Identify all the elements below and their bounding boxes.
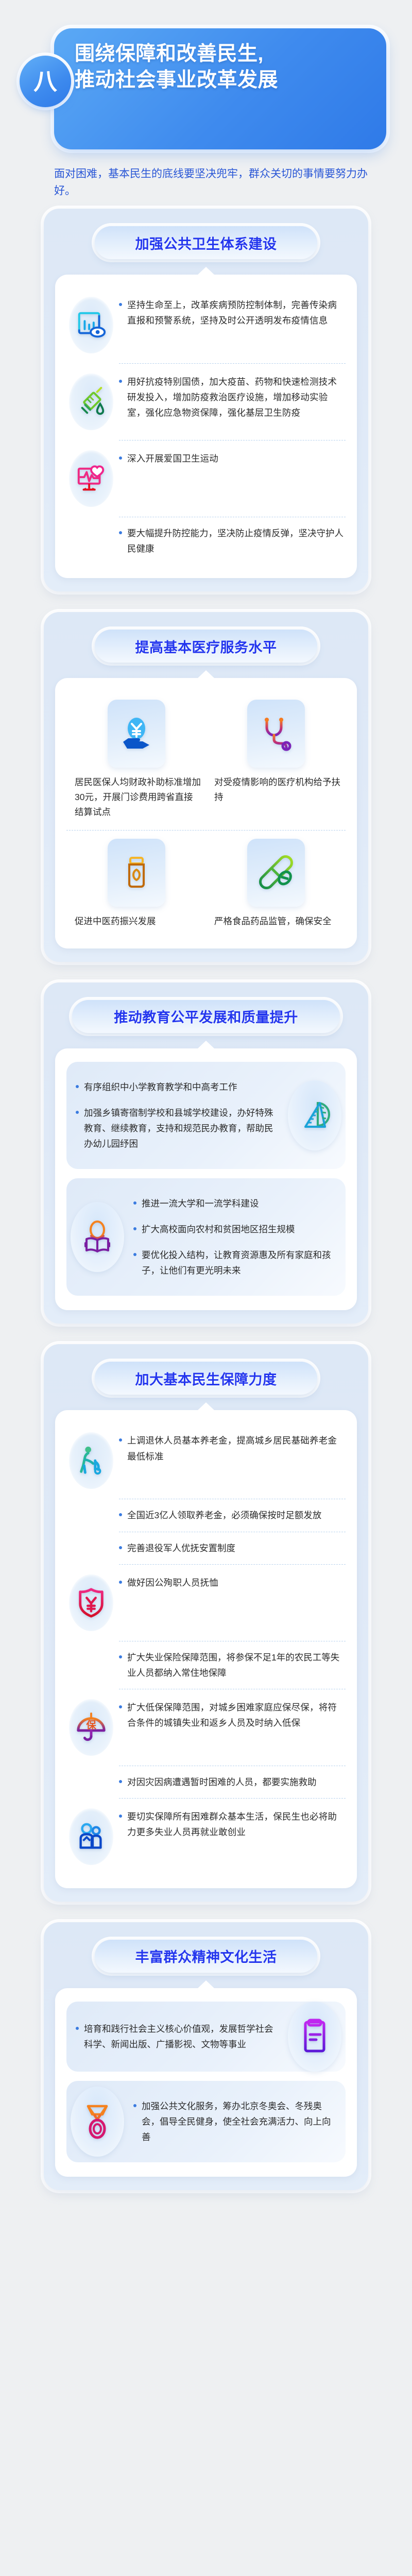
bullet-dot (119, 456, 122, 460)
icon-wrap (66, 1573, 116, 1633)
culture-panel-two: 加强公共文化服务，筹办北京冬奥会、冬残奥会，倡导全民健身，使全社会充满活力、向上… (66, 2081, 346, 2162)
list-item: 保 扩大低保保障范围，对城乡困难家庭应保尽保，将符合条件的城镇失业和返乡人员及时… (66, 1690, 346, 1765)
section-number-badge: 八 (20, 56, 71, 107)
list-item: 上调退休人员基本养老金，提高城乡居民基础养老金最低标准 (66, 1423, 346, 1498)
section-title-pill-livelihood: 加大基本民生保障力度 (95, 1362, 317, 1395)
list-item: 加强公共文化服务，筹办北京冬奥会、冬残奥会，倡导全民健身，使全社会充满活力、向上… (133, 2093, 338, 2150)
list-item: 推进一流大学和一流学科建设 (133, 1191, 338, 1216)
section-education: 推动教育公平发展和质量提升 有序组织中小学教育教学和中高考工作 加强乡镇寄宿制学… (44, 982, 368, 1324)
divider (119, 517, 346, 517)
list-item: 培育和践行社会主义核心价值观，发展哲学社会科学、新闻出版、广播影视、文物等事业 (76, 2016, 279, 2057)
grid-cell: 对受疫情影响的医疗机构给予扶持 (206, 691, 346, 825)
section-medical-service: 提高基本医疗服务水平 居民医保人均财政补助标准增加30元，开展门诊费用跨省直接结… (44, 612, 368, 962)
section-title-livelihood: 加大基本民生保障力度 (135, 1368, 277, 1388)
bullet-dot (133, 1201, 136, 1205)
icon-wrap: 保 (66, 1698, 116, 1757)
list-item: 完善退役军人优抚安置制度 (66, 1533, 346, 1563)
list-item: 要切实保障所有困难群众基本生活，保民生也必将助力更多失业人员再就业敢创业 (66, 1800, 346, 1874)
list-item: 扩大高校面向农村和贫困地区招生规模 (133, 1216, 338, 1242)
icon-wrap (66, 1202, 128, 1272)
education-panel-two: 推进一流大学和一流学科建设 扩大高校面向农村和贫困地区招生规模 要优化投入结构，… (66, 1178, 346, 1296)
list-item-text: 坚持生命至上，改革疾病预防控制体制，完善传染病直报和预警系统，坚持及时公开透明发… (127, 297, 346, 328)
section-title-pill-education: 推动教育公平发展和质量提升 (72, 1000, 340, 1033)
list-item-text: 扩大失业保险保障范围，将参保不足1年的农民工等失业人员都纳入常住地保障 (127, 1650, 346, 1681)
grid-cell-text: 对受疫情影响的医疗机构给予扶持 (211, 775, 340, 805)
divider (119, 1766, 346, 1766)
spacer (66, 2072, 346, 2081)
grid-cell: 居民医保人均财政补助标准增加30元，开展门诊费用跨省直接结算试点 (66, 691, 206, 825)
icon-wrap (284, 2002, 346, 2072)
list-item-text: 要大幅提升防控能力，坚决防止疫情反弹，坚决守护人民健康 (127, 526, 346, 556)
section-livelihood: 加大基本民生保障力度 (44, 1344, 368, 1901)
grid-cell-text: 促进中医药振兴发展 (72, 914, 201, 929)
list-item-text: 完善退役军人优抚安置制度 (127, 1540, 235, 1556)
list-item-text-wrap: 扩大低保保障范围，对城乡困难家庭应保尽保，将符合条件的城镇失业和返乡人员及时纳入… (119, 1698, 346, 1731)
section-title-public-health: 加强公共卫生体系建设 (135, 233, 277, 253)
section-title-medical-service: 提高基本医疗服务水平 (135, 636, 277, 656)
hand-yuan-icon (108, 700, 165, 768)
list-item-text: 深入开展爱国卫生运动 (127, 451, 218, 466)
list-item-text: 加强乡镇寄宿制学校和县城学校建设，办好特殊教育、继续教育，支持和规范民办教育，帮… (84, 1105, 279, 1151)
bullet-dot (119, 303, 122, 306)
bullet-dot (119, 380, 122, 383)
page-title: 围绕保障和改善民生, 推动社会事业改革发展 (75, 41, 373, 93)
divider (119, 1689, 346, 1689)
bullet-dot (119, 1815, 122, 1818)
divider (119, 1564, 346, 1565)
divider (119, 363, 346, 364)
culture-panel-one: 培育和践行社会主义核心价值观，发展哲学社会科学、新闻出版、广播影视、文物等事业 (66, 2002, 346, 2072)
divider (119, 1532, 346, 1532)
person-reading-book-icon (71, 1202, 124, 1272)
grid-cell-text: 居民医保人均财政补助标准增加30元，开展门诊费用跨省直接结算试点 (72, 775, 201, 820)
section-public-health: 加强公共卫生体系建设 (44, 209, 368, 591)
icon-wrap (66, 449, 116, 509)
icon-wrap (66, 1431, 116, 1490)
list-item: 全国近3亿人领取养老金，必须确保按时足额发放 (66, 1500, 346, 1530)
icon-wrap (66, 1807, 116, 1867)
umbrella-bao-icon: 保 (69, 1699, 113, 1756)
icon-wrap (284, 1080, 346, 1150)
icon-wrap (66, 2087, 128, 2157)
list-item-text: 上调退休人员基本养老金，提高城乡居民基础养老金最低标准 (127, 1433, 346, 1464)
bullet-dot (133, 1253, 136, 1256)
two-people-icon (69, 1808, 113, 1865)
highlight-value: 30 (75, 792, 84, 802)
list-item-text: 有序组织中小学教育教学和中高考工作 (84, 1079, 237, 1095)
medicine-bottle-icon (108, 839, 165, 907)
list-item-text: 要优化投入结构，让教育资源惠及所有家庭和孩子，让他们有更光明未来 (142, 1247, 338, 1278)
bullet-dot (76, 1085, 79, 1088)
text-after: 元，开展门诊费用跨省直接结算试点 (75, 792, 193, 817)
grid-cell-text: 严格食品药品监管，确保安全 (211, 914, 340, 929)
list-item-text-wrap: 坚持生命至上，改革疾病预防控制体制，完善传染病直报和预警系统，坚持及时公开透明发… (119, 295, 346, 328)
bullet-dot (119, 1705, 122, 1708)
section-body-education: 有序组织中小学教育教学和中高考工作 加强乡镇寄宿制学校和县城学校建设，办好特殊教… (55, 1048, 357, 1311)
text-before: 居民医保人均财政补助标准增加 (75, 777, 201, 787)
ruler-protractor-icon (288, 1080, 341, 1150)
bullet-list: 推进一流大学和一流学科建设 扩大高校面向农村和贫困地区招生规模 要优化投入结构，… (128, 1178, 346, 1296)
bullet-dot (119, 531, 122, 534)
section-title-pill-culture: 丰富群众精神文化生活 (95, 1940, 317, 1973)
bullet-dot (76, 1111, 79, 1114)
elderly-walker-icon (69, 1432, 113, 1489)
list-item: 要优化投入结构，让教育资源惠及所有家庭和孩子，让他们有更光明未来 (133, 1242, 338, 1283)
section-title-culture: 丰富群众精神文化生活 (135, 1946, 277, 1966)
list-item-text-wrap: 深入开展爱国卫生运动 (119, 449, 346, 466)
list-item-text: 对因灾因病遭遇暂时困难的人员，都要实施救助 (127, 1774, 317, 1790)
page-title-line2: 推动社会事业改革发展 (75, 67, 373, 94)
divider (119, 1499, 346, 1499)
divider (119, 440, 346, 440)
bullet-dot (119, 1780, 122, 1783)
header: 八 围绕保障和改善民生, 推动社会事业改革发展 面对困难，基本民生的底线要坚决兜… (0, 0, 412, 209)
grid-cell: 促进中医药振兴发展 (66, 831, 206, 934)
section-title-pill-public-health: 加强公共卫生体系建设 (95, 226, 317, 259)
bullet-dot (119, 1581, 122, 1584)
medical-grid: 居民医保人均财政补助标准增加30元，开展门诊费用跨省直接结算试点 (66, 691, 346, 934)
list-item-text: 扩大低保保障范围，对城乡困难家庭应保尽保，将符合条件的城镇失业和返乡人员及时纳入… (127, 1700, 346, 1731)
list-item-text: 做好因公殉职人员抚恤 (127, 1575, 218, 1590)
icon-wrap (66, 372, 116, 432)
page-subtitle: 面对困难，基本民生的底线要坚决兜牢，群众关切的事情要努力办好。 (54, 166, 384, 199)
icon-wrap (66, 295, 116, 355)
section-title-education: 推动教育公平发展和质量提升 (114, 1006, 298, 1026)
bullet-dot (119, 1655, 122, 1658)
section-number-text: 八 (33, 70, 57, 93)
section-body-culture: 培育和践行社会主义核心价值观，发展哲学社会科学、新闻出版、广播影视、文物等事业 (55, 1988, 357, 2177)
infographic-page: 八 围绕保障和改善民生, 推动社会事业改革发展 面对困难，基本民生的底线要坚决兜… (0, 0, 412, 2231)
bullet-dot (119, 1438, 122, 1442)
list-item-text-wrap: 要切实保障所有困难群众基本生活，保民生也必将助力更多失业人员再就业敢创业 (119, 1807, 346, 1840)
bullet-list: 加强公共文化服务，筹办北京冬奥会、冬残奥会，倡导全民健身，使全社会充满活力、向上… (128, 2081, 346, 2162)
bullet-list: 培育和践行社会主义核心价值观，发展哲学社会科学、新闻出版、广播影视、文物等事业 (66, 2004, 284, 2070)
list-item: 坚持生命至上，改革疾病预防控制体制，完善传染病直报和预警系统，坚持及时公开透明发… (66, 288, 346, 362)
section-body-public-health: 坚持生命至上，改革疾病预防控制体制，完善传染病直报和预警系统，坚持及时公开透明发… (55, 275, 357, 578)
shield-yuan-icon (69, 1574, 113, 1631)
book-document-icon (288, 2002, 341, 2072)
divider (119, 1798, 346, 1799)
list-item-text: 推进一流大学和一流学科建设 (142, 1196, 259, 1211)
list-item-text: 加强公共文化服务，筹办北京冬奥会、冬残奥会，倡导全民健身，使全社会充满活力、向上… (142, 2098, 338, 2145)
list-item: 加强乡镇寄宿制学校和县城学校建设，办好特殊教育、继续教育，支持和规范民办教育，帮… (76, 1100, 279, 1157)
list-item-text: 全国近3亿人领取养老金，必须确保按时足额发放 (127, 1507, 321, 1523)
list-item-text: 培育和践行社会主义核心价值观，发展哲学社会科学、新闻出版、广播影视、文物等事业 (84, 2021, 279, 2052)
bullet-dot (133, 2104, 136, 2107)
list-item: 要大幅提升防控能力，坚决防止疫情反弹，坚决守护人民健康 (66, 518, 346, 564)
bullet-dot (133, 1227, 136, 1230)
list-item-text: 要切实保障所有困难群众基本生活，保民生也必将助力更多失业人员再就业敢创业 (127, 1809, 346, 1840)
list-item-text: 扩大高校面向农村和贫困地区招生规模 (142, 1222, 295, 1237)
bullet-dot (119, 1513, 122, 1516)
divider (119, 1641, 346, 1641)
medal-icon (71, 2087, 124, 2157)
svg-text:保: 保 (85, 1719, 96, 1731)
bullet-dot (76, 2027, 79, 2030)
list-item: 深入开展爱国卫生运动 (66, 442, 346, 516)
list-item: 对因灾因病遭遇暂时困难的人员，都要实施救助 (66, 1767, 346, 1797)
grid-cell: 严格食品药品监管，确保安全 (206, 831, 346, 934)
list-item: 做好因公殉职人员抚恤 (66, 1566, 346, 1640)
section-title-pill-medical-service: 提高基本医疗服务水平 (95, 630, 317, 663)
spacer (66, 1169, 346, 1178)
education-panel-one: 有序组织中小学教育教学和中高考工作 加强乡镇寄宿制学校和县城学校建设，办好特殊教… (66, 1062, 346, 1169)
bullet-list: 有序组织中小学教育教学和中高考工作 加强乡镇寄宿制学校和县城学校建设，办好特殊教… (66, 1062, 284, 1169)
list-item-text-wrap: 上调退休人员基本养老金，提高城乡居民基础养老金最低标准 (119, 1431, 346, 1464)
syringe-icon (69, 374, 113, 430)
section-culture: 丰富群众精神文化生活 培育和践行社会主义核心价值观，发展哲学社会科学、新闻出版、… (44, 1922, 368, 2190)
list-item: 扩大失业保险保障范围，将参保不足1年的农民工等失业人员都纳入常住地保障 (66, 1642, 346, 1688)
list-item-text-wrap: 做好因公殉职人员抚恤 (119, 1573, 346, 1590)
list-item-text: 用好抗疫特别国债，加大疫苗、药物和快速检测技术研发投入，增加防疫救治医疗设施，增… (127, 374, 346, 420)
heart-monitor-icon (69, 450, 113, 507)
list-item-text-wrap: 用好抗疫特别国债，加大疫苗、药物和快速检测技术研发投入，增加防疫救治医疗设施，增… (119, 372, 346, 420)
section-body-livelihood: 上调退休人员基本养老金，提高城乡居民基础养老金最低标准 全国近3亿人领取养老金，… (55, 1410, 357, 1888)
list-item: 用好抗疫特别国债，加大疫苗、药物和快速检测技术研发投入，增加防疫救治医疗设施，增… (66, 365, 346, 439)
page-title-line1: 围绕保障和改善民生, (75, 41, 373, 67)
list-item: 有序组织中小学教育教学和中高考工作 (76, 1074, 279, 1100)
section-body-medical-service: 居民医保人均财政补助标准增加30元，开展门诊费用跨省直接结算试点 (55, 678, 357, 948)
stethoscope-icon (247, 700, 305, 768)
bullet-dot (119, 1546, 122, 1549)
capsule-pill-icon (247, 839, 305, 907)
chart-monitor-icon (69, 297, 113, 353)
